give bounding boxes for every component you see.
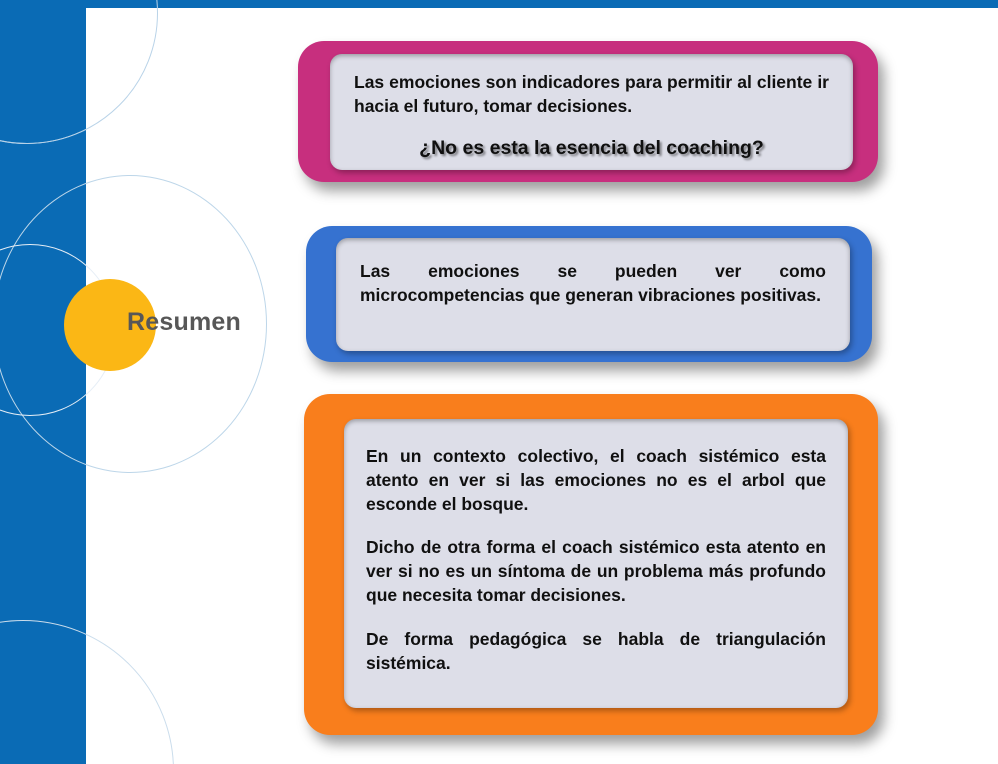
summary-card-orange-body: En un contexto colectivo, el coach sisté… — [344, 419, 848, 708]
summary-card-orange-paragraph-3: De forma pedagógica se habla de triangul… — [366, 628, 826, 676]
slide-canvas: Resumen Las emociones son indicadores pa… — [0, 0, 998, 764]
summary-card-pink-body: Las emociones son indicadores para permi… — [330, 54, 853, 170]
decorative-circle-top-icon — [0, 0, 86, 144]
summary-card-blue-paragraph-1: Las emociones se pueden ver como microco… — [360, 260, 826, 308]
summary-card-pink: Las emociones son indicadores para permi… — [298, 41, 878, 182]
summary-card-pink-highlight: ¿No es esta la esencia del coaching? — [354, 135, 829, 162]
page-title: Resumen — [64, 308, 304, 337]
summary-card-blue: Las emociones se pueden ver como microco… — [306, 226, 872, 362]
summary-card-blue-body: Las emociones se pueden ver como microco… — [336, 238, 850, 351]
summary-card-pink-paragraph-1: Las emociones son indicadores para permi… — [354, 71, 829, 119]
top-accent-bar — [86, 0, 998, 8]
left-accent-panel — [0, 0, 86, 764]
summary-card-orange-paragraph-1: En un contexto colectivo, el coach sisté… — [366, 445, 826, 516]
summary-card-orange-paragraph-2: Dicho de otra forma el coach sistémico e… — [366, 536, 826, 607]
summary-card-orange: En un contexto colectivo, el coach sisté… — [304, 394, 878, 735]
